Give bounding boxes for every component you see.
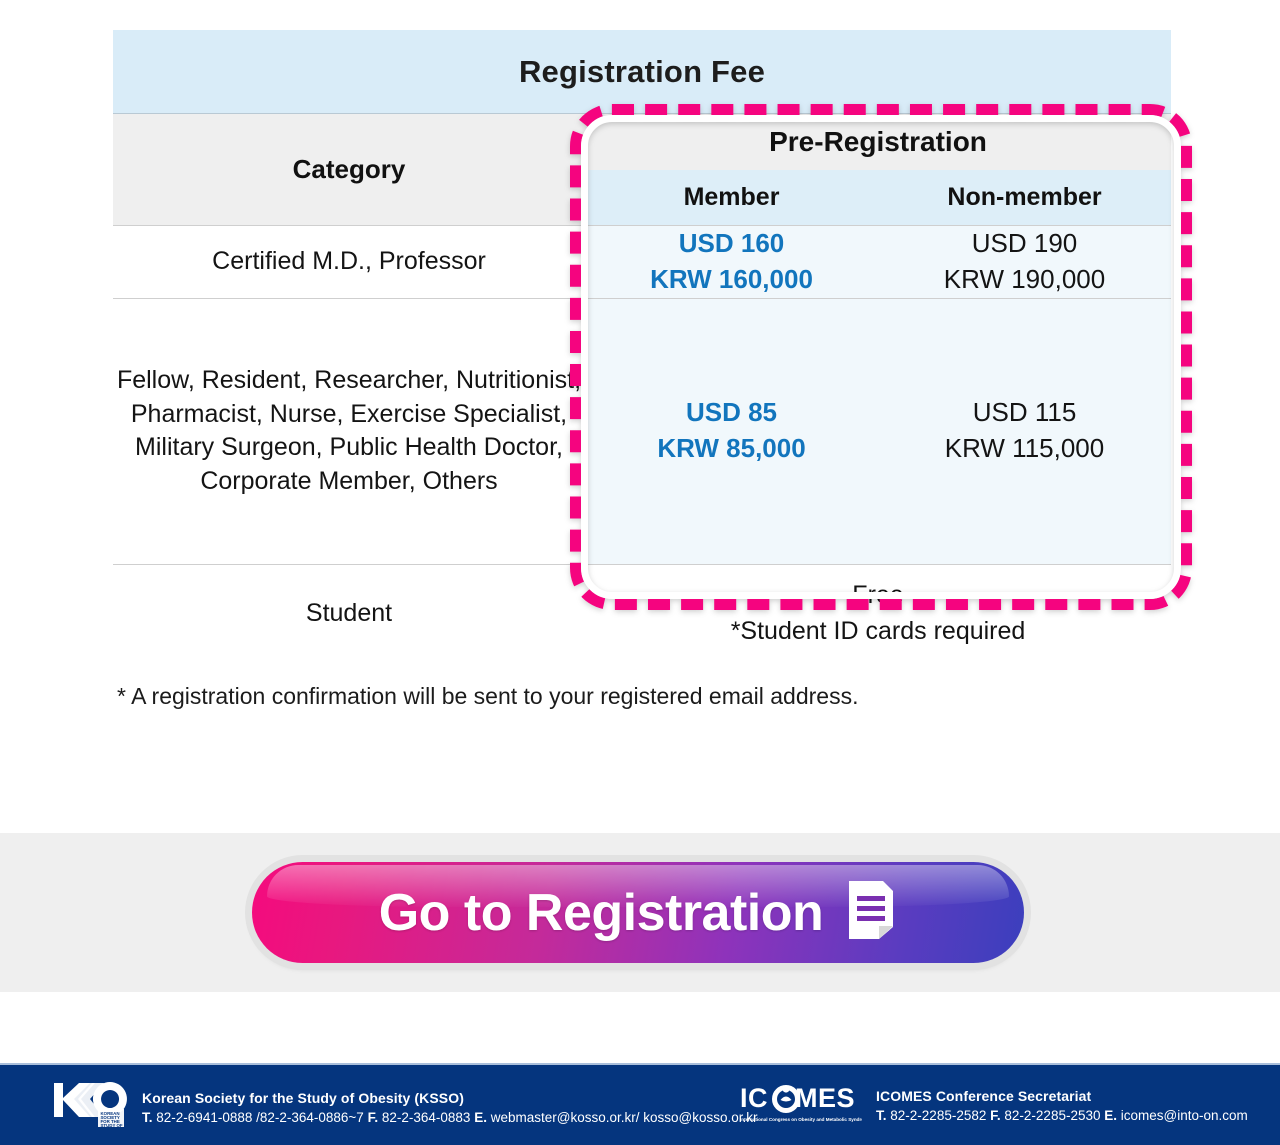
- page-footer: KOREAN SOCIETY FOR THE STUDY OF Korean S…: [0, 1063, 1280, 1145]
- table-header-row: Category Pre-Registration: [113, 114, 1171, 170]
- row-category-label: Fellow, Resident, Researcher, Nutritioni…: [113, 298, 585, 564]
- icomes-fax: 82-2-2285-2530: [1004, 1108, 1100, 1123]
- student-fee-cell: Free *Student ID cards required: [585, 564, 1171, 661]
- table-row: Certified M.D., Professor USD 160 KRW 16…: [113, 226, 1171, 299]
- ksso-email-label: E.: [474, 1110, 487, 1125]
- icomes-tel: 82-2-2285-2582: [890, 1108, 986, 1123]
- member-usd: USD 85: [585, 395, 878, 431]
- icomes-logo-subtitle: International Congress on Obesity and Me…: [740, 1117, 862, 1122]
- row-nonmember-price: USD 115 KRW 115,000: [878, 298, 1171, 564]
- icomes-fax-label: F.: [990, 1108, 1001, 1123]
- icomes-tel-label: T.: [876, 1108, 887, 1123]
- ksso-tel: 82-2-6941-0888 /82-2-364-0886~7: [156, 1110, 364, 1125]
- column-header-category: Category: [113, 114, 585, 226]
- footer-icomes-block: IC MES International Congress on Obesity…: [740, 1079, 1248, 1132]
- svg-text:STUDY OF: STUDY OF: [101, 1123, 123, 1128]
- ksso-fax-label: F.: [368, 1110, 379, 1125]
- registration-fee-table-block: Registration Fee Category Pre-Registrati…: [113, 30, 1171, 710]
- row-category-label: Student: [113, 564, 585, 661]
- nonmember-usd: USD 190: [878, 226, 1171, 262]
- nonmember-krw: KRW 115,000: [878, 431, 1171, 467]
- nonmember-usd: USD 115: [878, 395, 1171, 431]
- member-krw: KRW 160,000: [585, 262, 878, 298]
- ksso-tel-label: T.: [142, 1110, 153, 1125]
- ksso-contact-text: Korean Society for the Study of Obesity …: [142, 1088, 758, 1128]
- page-title: Registration Fee: [113, 30, 1171, 114]
- icomes-contact-line: T. 82-2-2285-2582 F. 82-2-2285-2530 E. i…: [876, 1106, 1248, 1126]
- nonmember-krw: KRW 190,000: [878, 262, 1171, 298]
- ksso-fax: 82-2-364-0883: [382, 1110, 471, 1125]
- student-fee-note: *Student ID cards required: [585, 613, 1171, 649]
- table-row: Fellow, Resident, Researcher, Nutritioni…: [113, 298, 1171, 564]
- svg-text:IC: IC: [740, 1083, 768, 1113]
- go-to-registration-label: Go to Registration: [379, 883, 824, 943]
- icomes-title: ICOMES Conference Secretariat: [876, 1086, 1248, 1106]
- column-header-nonmember: Non-member: [878, 170, 1171, 226]
- document-icon: [845, 879, 897, 946]
- row-category-label: Certified M.D., Professor: [113, 226, 585, 299]
- icomes-email-label: E.: [1104, 1108, 1117, 1123]
- table-row-student: Student Free *Student ID cards required: [113, 564, 1171, 661]
- row-member-price: USD 160 KRW 160,000: [585, 226, 878, 299]
- row-nonmember-price: USD 190 KRW 190,000: [878, 226, 1171, 299]
- icomes-email: icomes@into-on.com: [1121, 1108, 1248, 1123]
- column-header-member: Member: [585, 170, 878, 226]
- icomes-logo-icon: IC MES International Congress on Obesity…: [740, 1079, 862, 1132]
- ksso-email: webmaster@kosso.or.kr/ kosso@kosso.or.kr: [491, 1110, 758, 1125]
- registration-footnote: * A registration confirmation will be se…: [113, 683, 1171, 710]
- go-to-registration-button[interactable]: Go to Registration: [252, 862, 1024, 963]
- svg-text:MES: MES: [795, 1083, 855, 1113]
- ksso-title: Korean Society for the Study of Obesity …: [142, 1088, 758, 1108]
- row-member-price: USD 85 KRW 85,000: [585, 298, 878, 564]
- student-fee: Free: [585, 577, 1171, 613]
- member-usd: USD 160: [585, 226, 878, 262]
- ksso-contact-line: T. 82-2-6941-0888 /82-2-364-0886~7 F. 82…: [142, 1108, 758, 1128]
- footer-ksso-block: KOREAN SOCIETY FOR THE STUDY OF Korean S…: [52, 1079, 758, 1136]
- ksso-logo-icon: KOREAN SOCIETY FOR THE STUDY OF: [52, 1079, 128, 1136]
- column-header-pre-registration: Pre-Registration: [585, 114, 1171, 170]
- fee-table: Category Pre-Registration Member Non-mem…: [113, 114, 1171, 661]
- icomes-contact-text: ICOMES Conference Secretariat T. 82-2-22…: [876, 1086, 1248, 1126]
- member-krw: KRW 85,000: [585, 431, 878, 467]
